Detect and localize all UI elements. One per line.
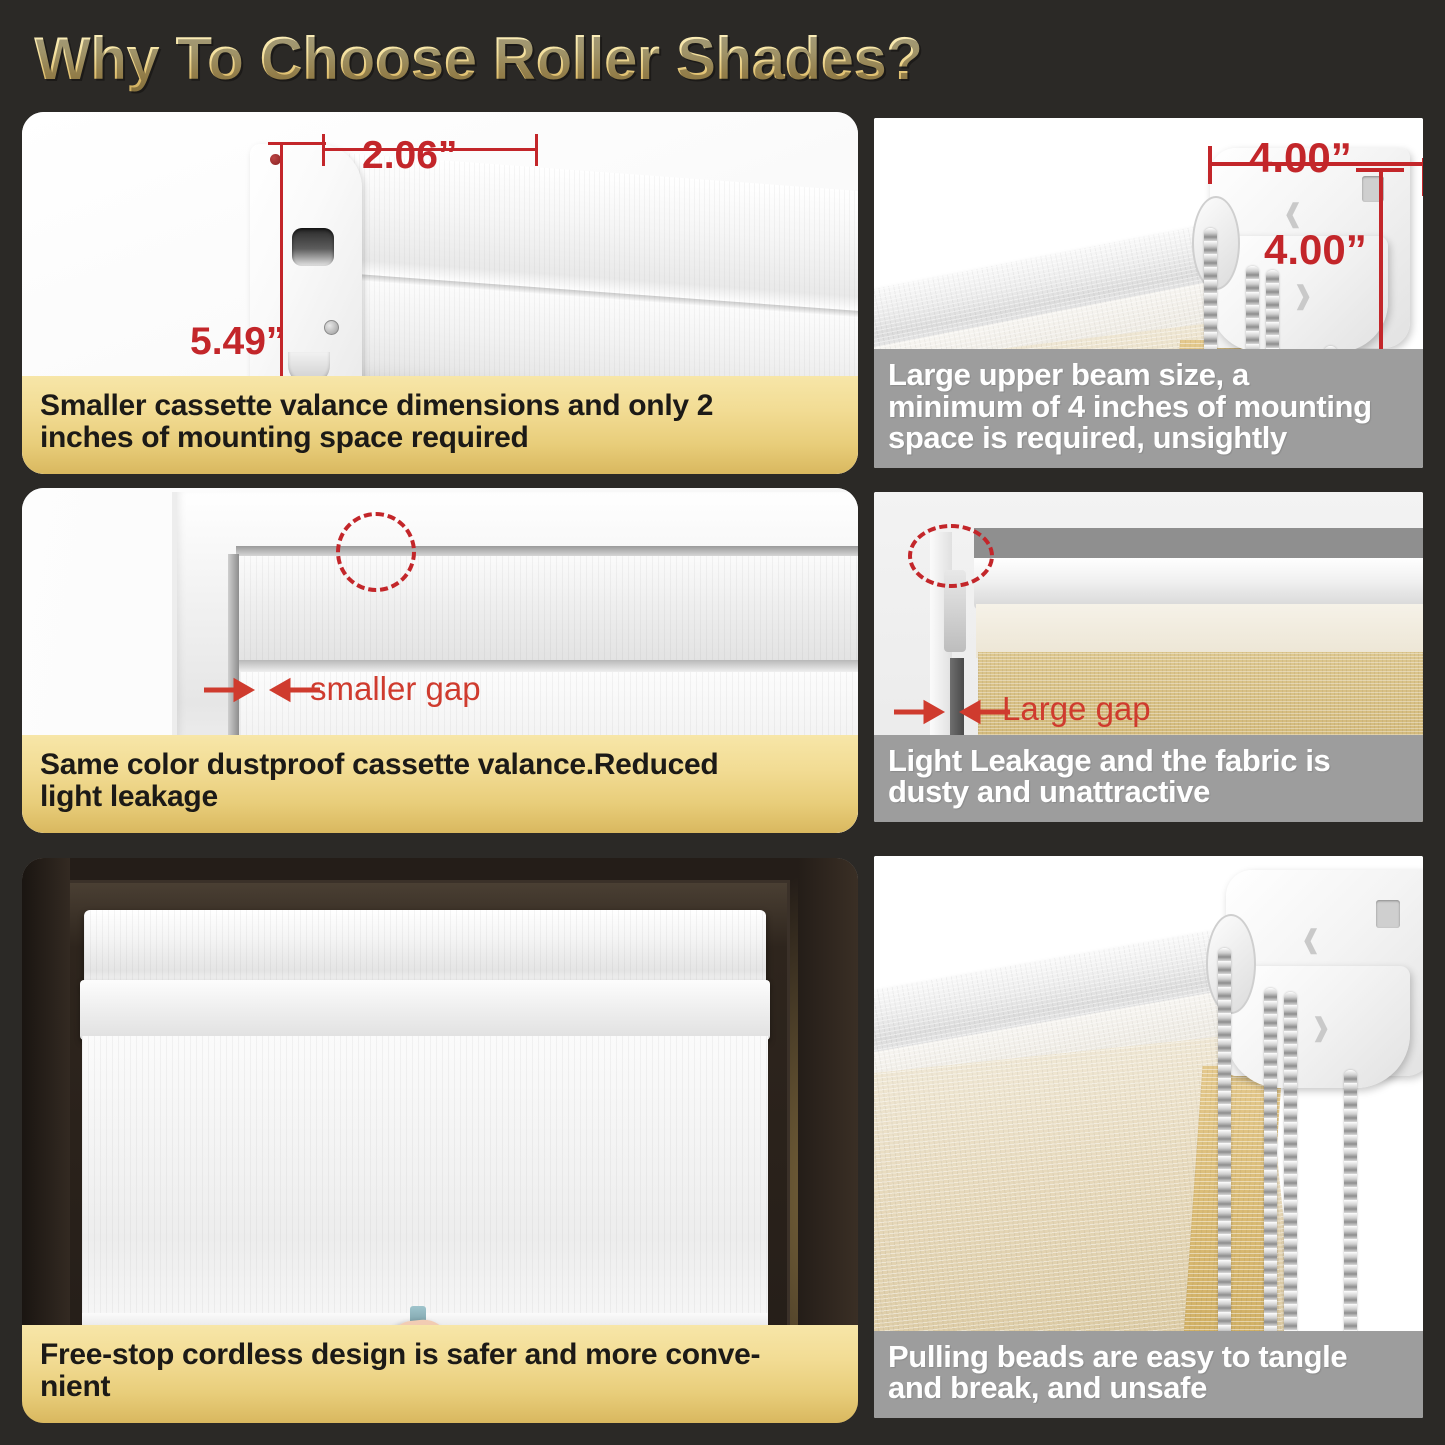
caption-line: Smaller cassette valance dimensions and … [40, 390, 840, 422]
bracket-slot-top [1376, 900, 1400, 928]
cassette-head-rail [236, 546, 858, 556]
caption-line: Light Leakage and the fabric is [888, 745, 1409, 777]
caption-line: minimum of 4 inches of mounting [888, 391, 1409, 423]
caption-bottom-right: Pulling beads are easy to tangle and bre… [874, 1331, 1423, 1418]
caption-middle-left: Same color dustproof cassette valance.Re… [22, 735, 858, 833]
panel-middle-left: smaller gap Same color dustproof cassett… [22, 488, 858, 833]
width-dimension-label: 4.00” [1249, 134, 1352, 182]
shade-fabric [82, 1036, 768, 1326]
gap-label: Large gap [1002, 690, 1151, 728]
fabric-top-edge [976, 604, 1423, 658]
caption-line: Pulling beads are easy to tangle [888, 1341, 1409, 1373]
gap-label: smaller gap [310, 670, 481, 708]
panel-bottom-right: ❰ ❱ Pulling beads are easy to tangle and… [874, 856, 1423, 1418]
cassette-valance [84, 910, 766, 988]
page-title: Why To Choose Roller Shades? [34, 20, 1334, 98]
bracket-arrow-icon: ❰ [1300, 926, 1322, 952]
height-dimension-label: 5.49” [190, 320, 285, 364]
caption-line: inches of mounting space required [40, 422, 840, 454]
height-dimension-tick-top [268, 142, 326, 145]
width-dimension-tick-right [1422, 158, 1423, 196]
panel-bottom-left: Free-stop cordless design is safer and m… [22, 858, 858, 1423]
width-dimension-tick-left [1208, 146, 1212, 184]
gap-highlight-circle [336, 512, 416, 592]
panel-middle-right: Large gap Light Leakage and the fabric i… [874, 492, 1423, 822]
gap-arrows-icon [892, 692, 1012, 732]
valance-grain-texture [84, 910, 766, 988]
end-cap-screw-bottom [324, 320, 339, 335]
page-title-text: Why To Choose Roller Shades? [34, 25, 922, 92]
caption-top-left: Smaller cassette valance dimensions and … [22, 376, 858, 474]
roller-tube [974, 558, 1423, 610]
bracket-arrow-icon: ❰ [1282, 200, 1304, 226]
fabric-grain-texture [82, 1036, 768, 1326]
caption-line: dusty and unattractive [888, 776, 1409, 808]
caption-line: nient [40, 1371, 840, 1403]
width-dimension-tick-right [535, 134, 538, 166]
bracket-arrow-icon: ❱ [1292, 282, 1314, 308]
caption-line: light leakage [40, 781, 840, 813]
caption-line: Same color dustproof cassette valance.Re… [40, 749, 840, 781]
height-dimension-tick-top [1356, 168, 1404, 172]
width-dimension-tick-left [322, 134, 325, 166]
infographic-page: Why To Choose Roller Shades? 2.06” 5.49”… [0, 0, 1445, 1445]
panel-top-right: ❰ ❱ 4.00” 4.00” Large upper beam size, a… [874, 118, 1423, 468]
height-dimension-label: 4.00” [1264, 226, 1367, 274]
gap-arrows-icon [202, 670, 322, 710]
caption-top-right: Large upper beam size, a minimum of 4 in… [874, 349, 1423, 468]
bracket-arrow-icon: ❱ [1310, 1014, 1332, 1040]
caption-line: Free-stop cordless design is safer and m… [40, 1339, 840, 1371]
panel-top-left: 2.06” 5.49” Smaller cassette valance dim… [22, 112, 858, 474]
valance-lower-lip [80, 980, 770, 1040]
caption-bottom-left: Free-stop cordless design is safer and m… [22, 1325, 858, 1423]
caption-middle-right: Light Leakage and the fabric is dusty an… [874, 735, 1423, 822]
width-dimension-label: 2.06” [362, 134, 457, 178]
gap-highlight-circle [908, 524, 994, 588]
height-dimension-line [1379, 168, 1383, 358]
shade-upper-section [238, 556, 858, 660]
caption-line: space is required, unsightly [888, 422, 1409, 454]
end-cap-slot [292, 228, 334, 266]
caption-line: and break, and unsafe [888, 1372, 1409, 1404]
shade-grain-texture [238, 556, 858, 660]
roller-end-cap [1206, 914, 1256, 1014]
caption-line: Large upper beam size, a [888, 359, 1409, 391]
